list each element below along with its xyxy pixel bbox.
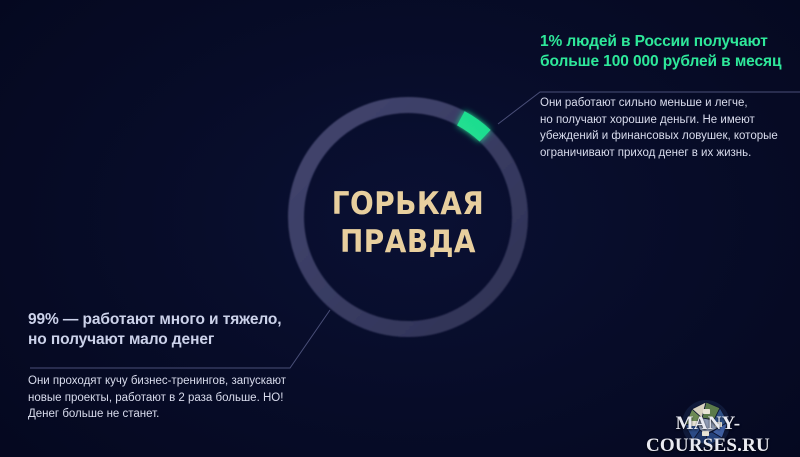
watermark: MANY-COURSES.RU: [624, 398, 792, 450]
watermark-text: MANY-COURSES.RU: [624, 413, 792, 457]
infographic-canvas: ГОРЬКАЯ ПРАВДА 1% людей в России получаю…: [0, 0, 800, 457]
callout-left-title-line-1: 99% — работают много и тяжело,: [28, 310, 310, 330]
center-title-line-1: ГОРЬКАЯ: [288, 186, 528, 224]
callout-ninety-nine-percent-title: 99% — работают много и тяжело, но получа…: [28, 310, 310, 351]
callout-one-percent: 1% людей в России получают больше 100 00…: [540, 32, 798, 162]
callout-ninety-nine-percent: 99% — работают много и тяжело, но получа…: [28, 310, 310, 423]
callout-right-body-line-3: убеждений и финансовых ловушек, которые: [540, 128, 798, 145]
callout-right-body-line-1: Они работают сильно меньше и легче,: [540, 95, 798, 112]
callout-right-body-line-4: ограничивают приход денег в их жизнь.: [540, 145, 798, 162]
callout-one-percent-body: Они работают сильно меньше и легче, но п…: [540, 95, 798, 162]
chart-center-title: ГОРЬКАЯ ПРАВДА: [288, 186, 528, 262]
callout-right-title-line-1: 1% людей в России получают: [540, 32, 798, 52]
callout-right-title-line-2: больше 100 000 рублей в месяц: [540, 52, 798, 72]
callout-left-body-line-1: Они проходят кучу бизнес-тренингов, запу…: [28, 373, 310, 390]
callout-ninety-nine-percent-body: Они проходят кучу бизнес-тренингов, запу…: [28, 373, 310, 423]
callout-right-body-line-2: но получают хорошие деньги. Не имеют: [540, 112, 798, 129]
callout-one-percent-title: 1% людей в России получают больше 100 00…: [540, 32, 798, 73]
center-title-line-2: ПРАВДА: [288, 224, 528, 262]
callout-left-body-line-2: новые проекты, работают в 2 раза больше.…: [28, 390, 310, 407]
callout-left-title-line-2: но получают мало денег: [28, 330, 310, 350]
callout-left-body-line-3: Денег больше не станет.: [28, 406, 310, 423]
